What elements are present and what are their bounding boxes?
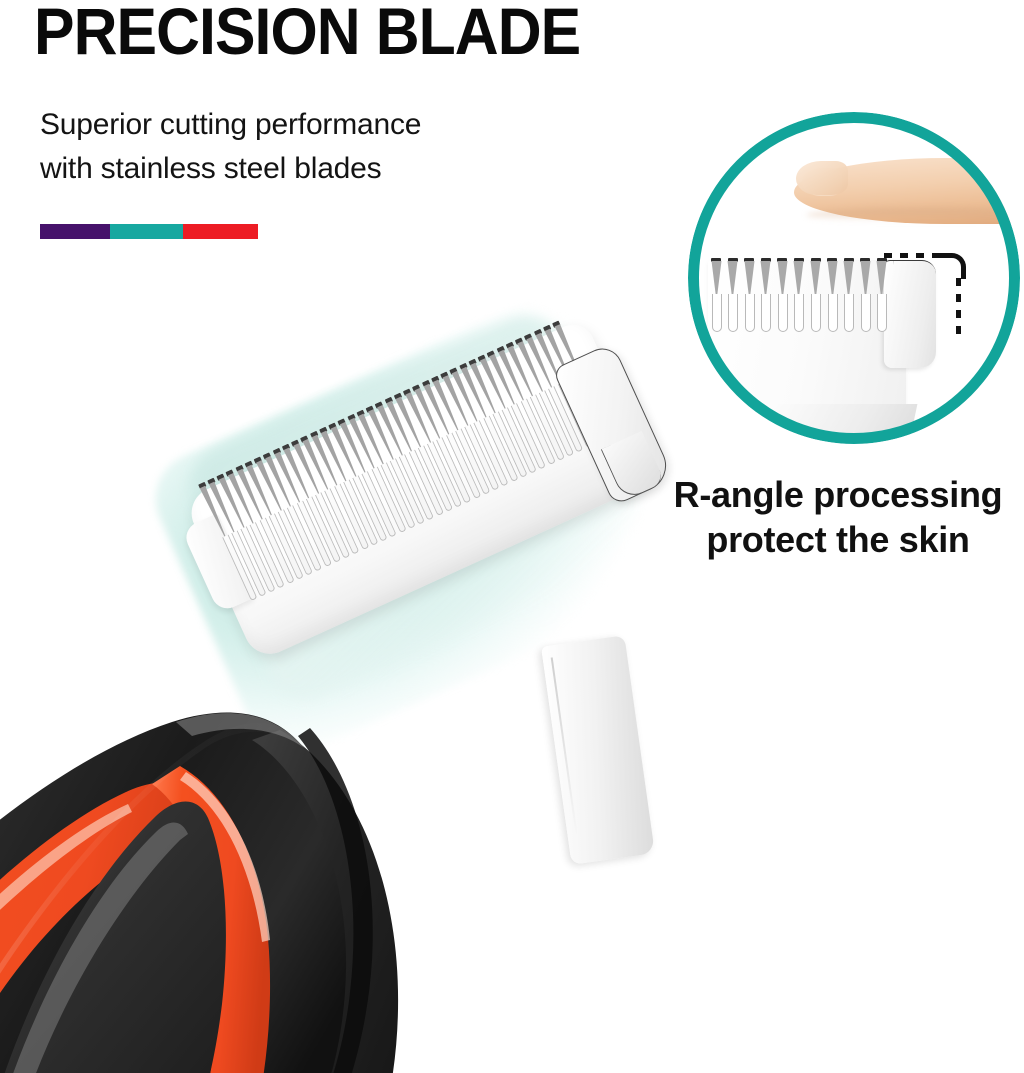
blade-stem	[541, 635, 655, 865]
blade-tooth	[708, 258, 725, 332]
accent-rule-segment-purple	[40, 224, 110, 239]
blade-tooth	[824, 258, 841, 332]
blade-tooth	[774, 258, 791, 332]
dashed-guide-corner	[940, 253, 966, 279]
subtitle-line-2: with stainless steel blades	[40, 147, 421, 191]
inset-blade-foot	[753, 404, 918, 444]
dashed-guide-vertical	[956, 278, 961, 342]
accent-rule-segment-red	[183, 224, 258, 239]
product-feature-banner: PRECISION BLADE Superior cutting perform…	[0, 0, 1024, 1073]
finger-shadow	[806, 208, 1020, 222]
inset-blade-teeth	[708, 258, 894, 332]
fingernail	[802, 168, 842, 196]
blade-tooth	[741, 258, 758, 332]
dashed-guide-horizontal	[884, 253, 948, 258]
blade-tooth	[791, 258, 808, 332]
blade-tooth	[891, 258, 894, 332]
product-image	[0, 340, 760, 1073]
blade-tooth	[841, 258, 858, 332]
clipper-handle	[0, 500, 540, 1073]
blade-tooth	[874, 258, 891, 332]
accent-rule	[40, 224, 258, 239]
subtitle: Superior cutting performance with stainl…	[40, 103, 421, 191]
accent-rule-segment-teal	[110, 224, 183, 239]
blade-tooth	[808, 258, 825, 332]
blade-tooth	[725, 258, 742, 332]
blade-tooth	[758, 258, 775, 332]
blade-tooth	[857, 258, 874, 332]
subtitle-line-1: Superior cutting performance	[40, 103, 421, 147]
page-title: PRECISION BLADE	[34, 0, 580, 64]
